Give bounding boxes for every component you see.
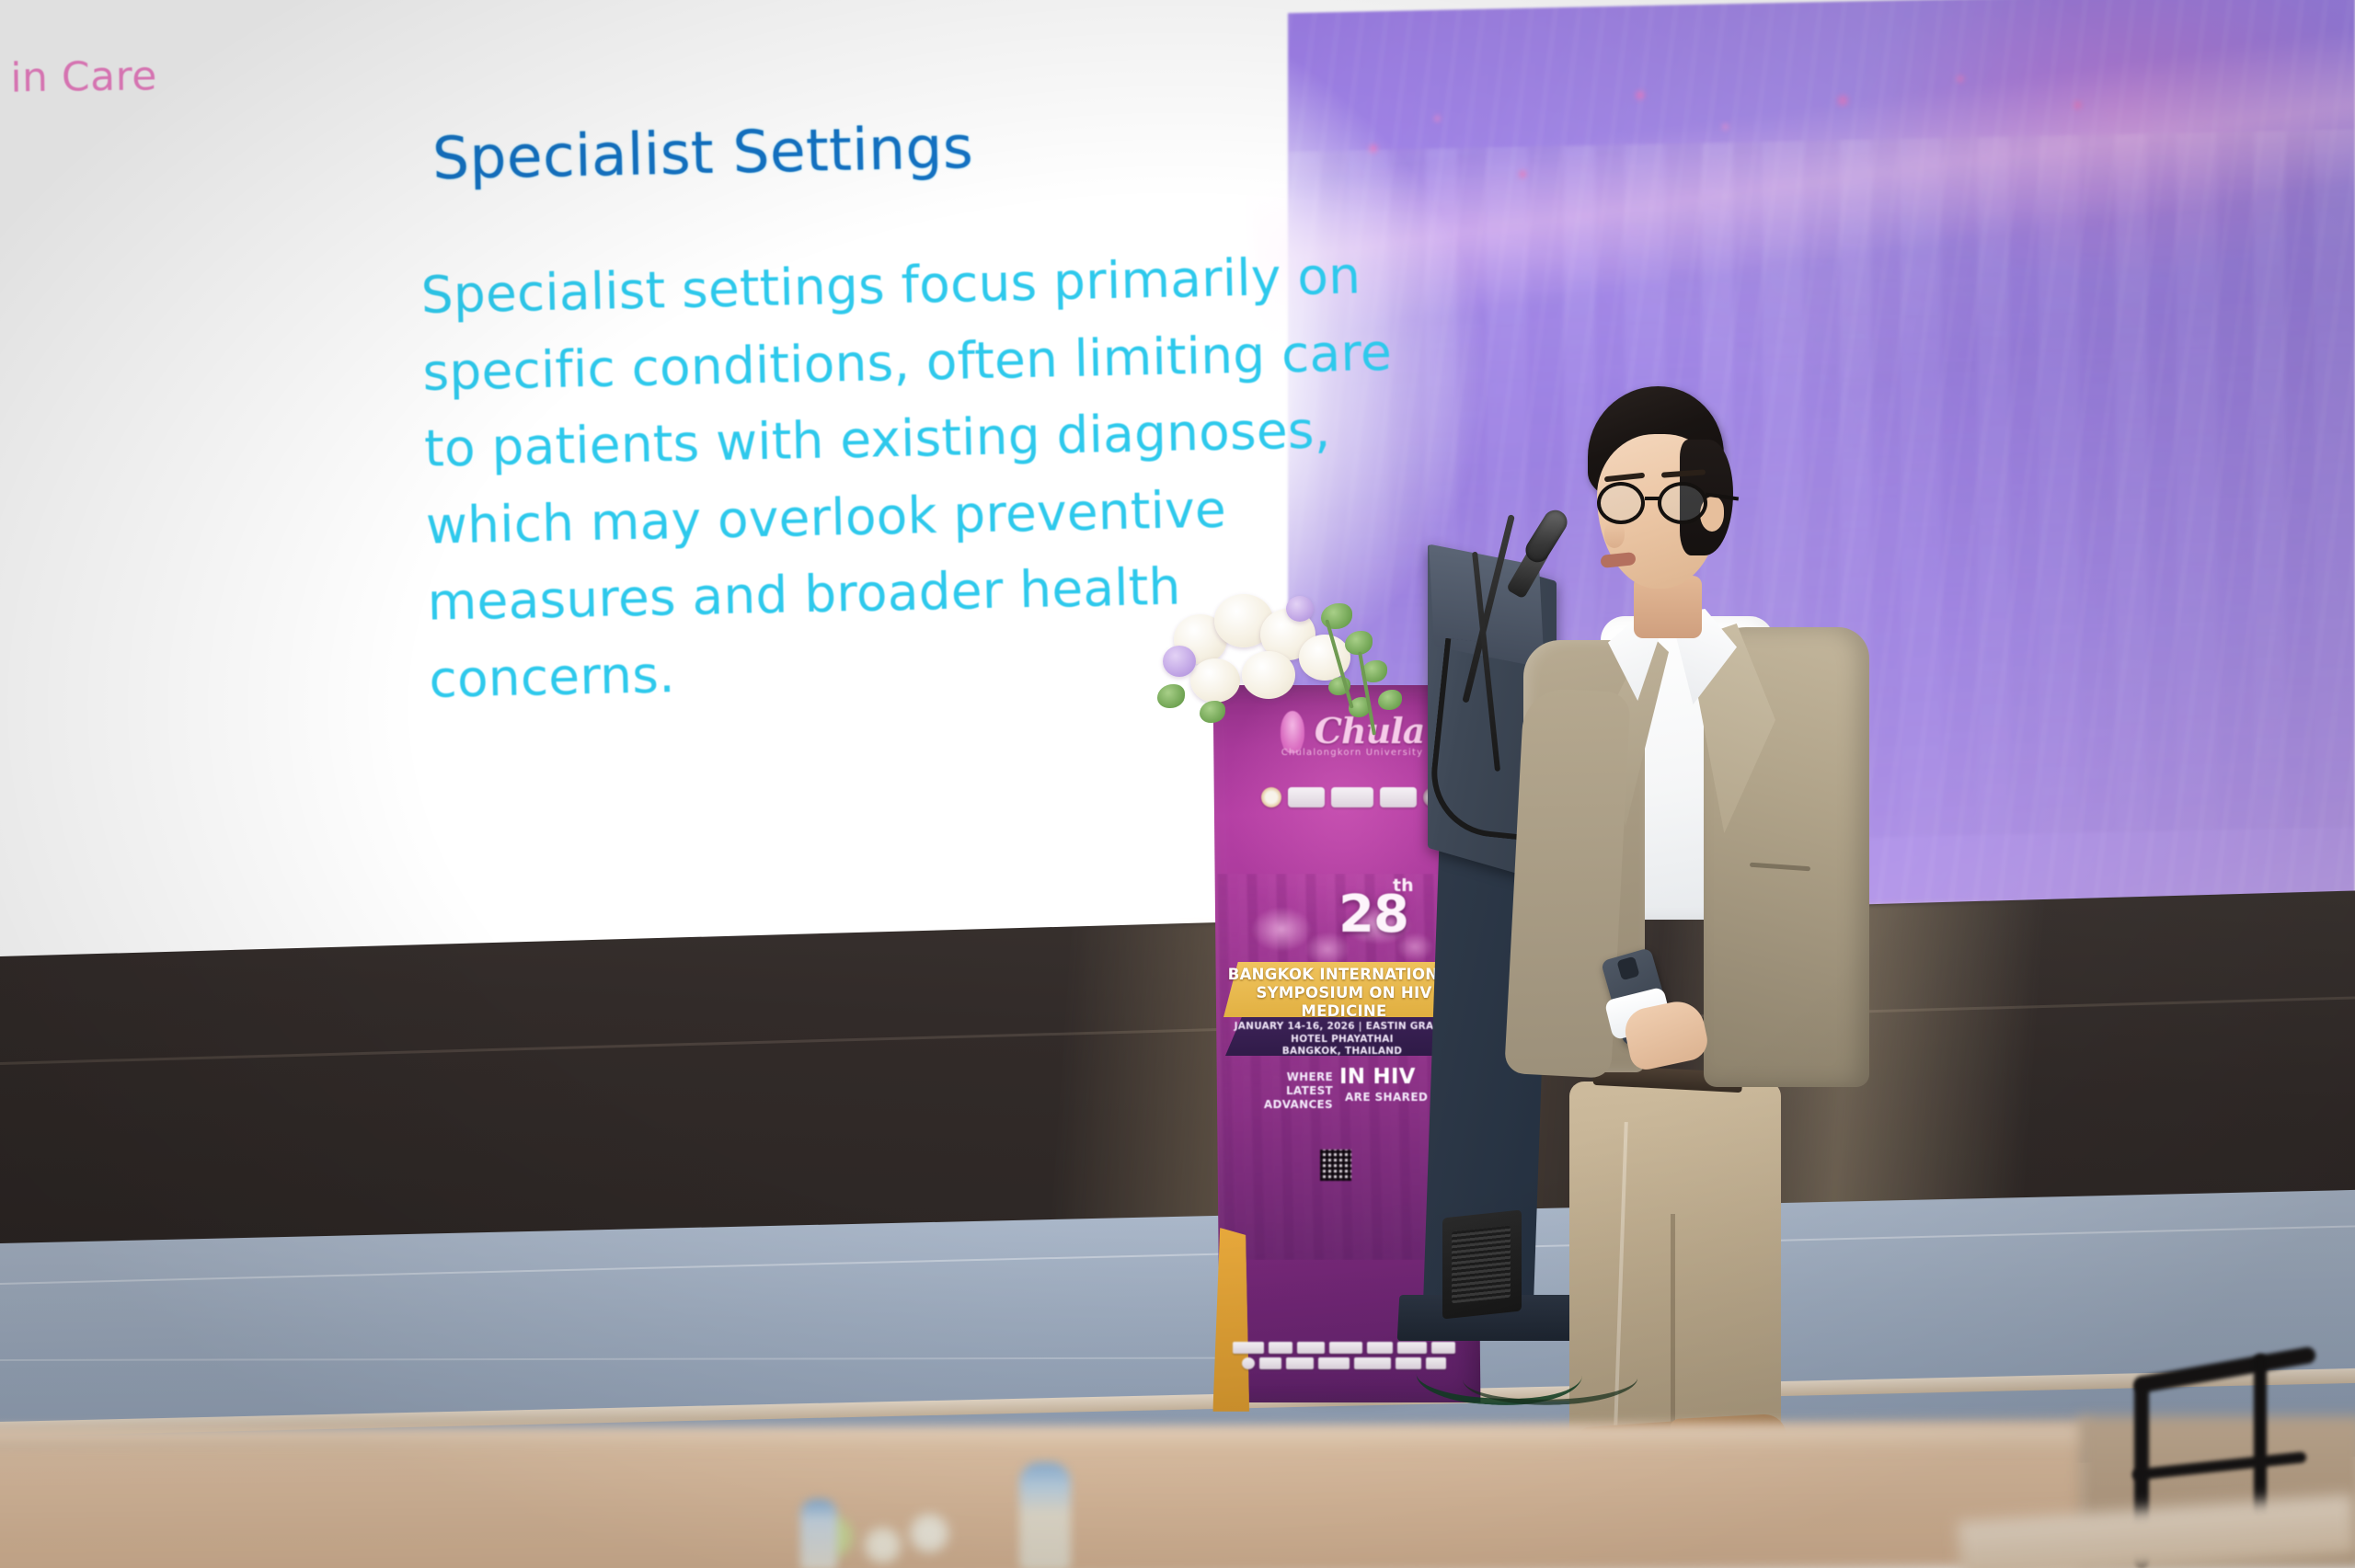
sponsor-logo bbox=[1259, 1357, 1281, 1369]
symposium-date-line-2: BANGKOK, THAILAND bbox=[1225, 1046, 1459, 1059]
eyeglass-temple bbox=[1706, 493, 1739, 501]
flower bbox=[1242, 651, 1295, 699]
leaf bbox=[1200, 701, 1225, 723]
slide-left-body-line: ers a bbox=[0, 303, 237, 370]
partner-logo bbox=[1380, 787, 1417, 807]
symposium-tagline: WHERE LATEST ADVANCES IN HIV ARE SHARED bbox=[1233, 1065, 1463, 1116]
floral-arrangement bbox=[1157, 581, 1415, 738]
qr-code-icon bbox=[1320, 1150, 1351, 1181]
slide-left-body-line: tients. bbox=[0, 532, 242, 598]
leaf bbox=[1157, 684, 1185, 708]
sponsor-logo bbox=[1233, 1342, 1264, 1354]
eyeglasses-icon bbox=[1593, 482, 1729, 524]
foreground-table-top bbox=[0, 1427, 2088, 1449]
speaker-nose bbox=[1604, 522, 1625, 548]
partner-logo bbox=[1288, 787, 1325, 807]
sponsor-logo bbox=[1354, 1357, 1391, 1369]
conference-photo-scene: erences in Care e ers a y addressing wit… bbox=[0, 0, 2355, 1568]
chula-subtitle: Chulalongkorn University bbox=[1246, 748, 1458, 758]
sponsor-logo bbox=[1286, 1357, 1314, 1369]
tagline-trailing-text: ARE SHARED bbox=[1345, 1091, 1428, 1104]
flower bbox=[1163, 646, 1196, 677]
speaker-person bbox=[1509, 386, 2024, 1416]
stage-monitor-grille bbox=[1452, 1226, 1511, 1304]
sponsor-logo bbox=[1318, 1357, 1350, 1369]
symposium-title-line-2: SYMPOSIUM ON HIV MEDICINE bbox=[1223, 984, 1465, 1021]
slide-title: Specialist Settings bbox=[431, 114, 973, 192]
sponsor-logo bbox=[1242, 1357, 1255, 1369]
flower bbox=[1286, 596, 1314, 622]
symposium-title-line-1: BANGKOK INTERNATIONAL bbox=[1223, 966, 1465, 984]
slide-left-body: ers a y addressing within the nsuring ti… bbox=[0, 303, 242, 598]
leaf bbox=[1378, 690, 1402, 710]
water-bottle bbox=[800, 1499, 837, 1568]
partner-logo bbox=[1261, 787, 1281, 807]
flower bbox=[1190, 658, 1240, 703]
symposium-date-text: JANUARY 14-16, 2026 | EASTIN GRAND HOTEL… bbox=[1225, 1021, 1459, 1059]
eyeglass-lens bbox=[1597, 482, 1645, 524]
slide-left-eyebrow: erences in Care bbox=[0, 50, 386, 103]
partner-logo bbox=[1331, 787, 1373, 807]
symposium-date-line-1: JANUARY 14-16, 2026 | EASTIN GRAND HOTEL… bbox=[1225, 1021, 1459, 1046]
water-bottle bbox=[1019, 1462, 1071, 1568]
sponsor-logo bbox=[1367, 1342, 1393, 1354]
edition-ordinal-suffix: th bbox=[1393, 876, 1414, 896]
sponsor-logo bbox=[1297, 1342, 1325, 1354]
slide-left-body-line: y addressing bbox=[0, 361, 238, 427]
eyeglass-bridge bbox=[1645, 497, 1660, 500]
sponsor-logo bbox=[1269, 1342, 1292, 1354]
tagline-emphasis-text: IN HIV bbox=[1339, 1065, 1416, 1089]
eyeglass-lens bbox=[1658, 482, 1707, 524]
trouser-leg-seam bbox=[1671, 1214, 1675, 1453]
stage-handrail-post bbox=[2254, 1354, 2267, 1519]
slide-left-body-line: nsuring bbox=[0, 475, 241, 541]
tagline-left-text: WHERE LATEST ADVANCES bbox=[1246, 1070, 1333, 1112]
symposium-title-text: BANGKOK INTERNATIONAL SYMPOSIUM ON HIV M… bbox=[1223, 966, 1465, 1021]
sponsor-logo bbox=[1329, 1342, 1362, 1354]
slide-left-body-line: within the bbox=[0, 418, 239, 484]
